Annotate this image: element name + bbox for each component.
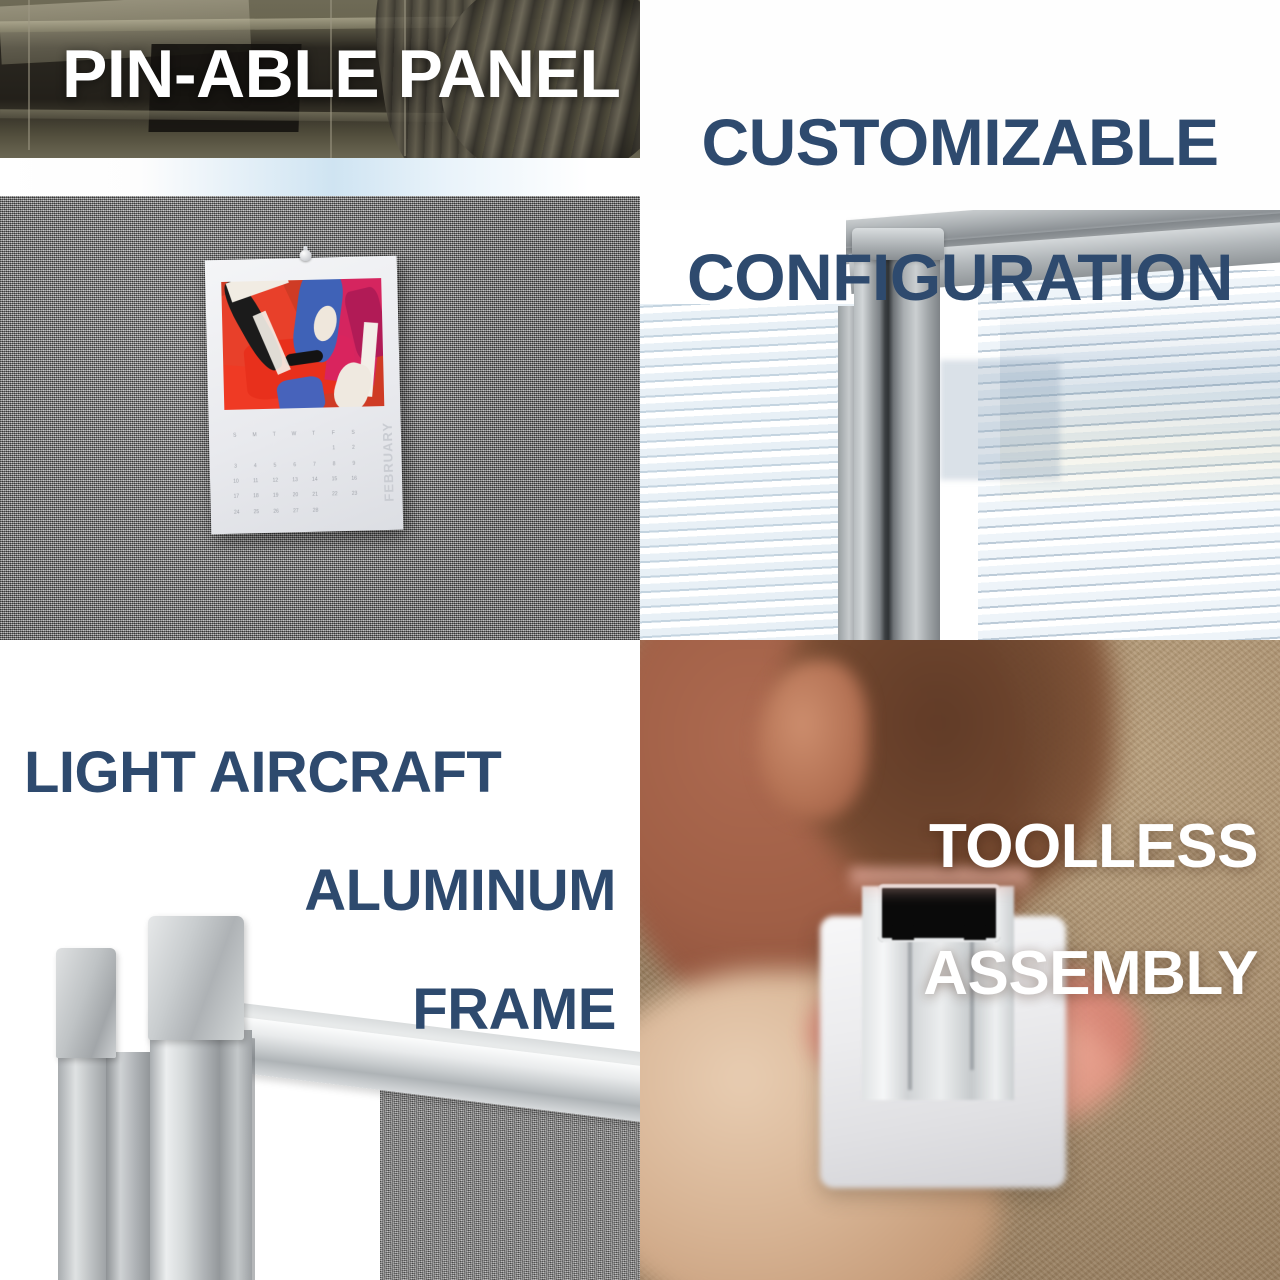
calendar-weekday: S xyxy=(343,427,363,443)
calendar-day: 22 xyxy=(325,488,345,504)
push-pin-icon xyxy=(296,246,314,266)
calendar-day xyxy=(284,443,304,459)
calendar-day: 16 xyxy=(344,473,364,489)
calendar-day: 18 xyxy=(246,490,266,506)
panel-top-edge-glare xyxy=(0,158,640,198)
calendar-day: 17 xyxy=(226,491,246,507)
calendar-weekday: F xyxy=(323,427,343,443)
calendar-day: 8 xyxy=(324,458,344,474)
calendar-day: 7 xyxy=(304,458,324,474)
calendar-day: 23 xyxy=(345,488,365,504)
quadrant-3-headline: LIGHT AIRCRAFT ALUMINUM FRAME xyxy=(24,684,616,1098)
calendar-day xyxy=(345,503,365,519)
calendar-day xyxy=(225,445,245,461)
quadrant-pin-able-panel: SMTWTFS123456789101112131415161718192021… xyxy=(0,0,640,640)
quadrant-2-headline-line1: CUSTOMIZABLE xyxy=(648,109,1272,176)
calendar-day: 24 xyxy=(227,506,247,522)
quadrant-2-headline: CUSTOMIZABLE CONFIGURATION xyxy=(640,42,1280,379)
quadrant-4-headline-line2: ASSEMBLY xyxy=(664,942,1258,1005)
calendar-day: 14 xyxy=(305,474,325,490)
feature-grid: SMTWTFS123456789101112131415161718192021… xyxy=(0,0,1280,1280)
calendar-day: 28 xyxy=(306,504,326,520)
calendar-day xyxy=(245,444,265,460)
calendar-day: 2 xyxy=(343,442,363,458)
calendar-weekday: M xyxy=(245,429,265,445)
calendar-weekday: W xyxy=(284,428,304,444)
calendar-day: 11 xyxy=(246,475,266,491)
calendar-day: 25 xyxy=(246,506,266,522)
calendar-day: 5 xyxy=(265,459,285,475)
calendar-weekday: T xyxy=(264,428,284,444)
calendar-day: 15 xyxy=(324,473,344,489)
calendar-day: 6 xyxy=(285,459,305,475)
calendar-day: 1 xyxy=(324,442,344,458)
calendar-weekday: S xyxy=(225,429,245,445)
quadrant-3-headline-line3: FRAME xyxy=(24,980,616,1039)
calendar-day: 13 xyxy=(285,474,305,490)
calendar-day xyxy=(325,504,345,520)
calendar-weekday: T xyxy=(304,428,324,444)
pinned-calendar: SMTWTFS123456789101112131415161718192021… xyxy=(205,256,404,535)
hanger-rod xyxy=(28,0,30,150)
calendar-day-grid: SMTWTFS123456789101112131415161718192021… xyxy=(225,427,365,522)
calendar-day: 4 xyxy=(245,460,265,476)
quadrant-2-headline-line2: CONFIGURATION xyxy=(648,244,1272,311)
calendar-day: 12 xyxy=(265,474,285,490)
quadrant-light-aircraft-aluminum-frame: LIGHT AIRCRAFT ALUMINUM FRAME xyxy=(0,640,640,1280)
calendar-day: 27 xyxy=(286,505,306,521)
calendar-day xyxy=(304,443,324,459)
calendar-day xyxy=(265,444,285,460)
calendar-artwork xyxy=(221,278,384,410)
quadrant-toolless-assembly: TOOLLESS ASSEMBLY xyxy=(640,640,1280,1280)
calendar-day: 20 xyxy=(285,489,305,505)
calendar-day: 3 xyxy=(226,460,246,476)
calendar-month-label: FEBRUARY xyxy=(380,422,397,502)
quadrant-3-headline-line1: LIGHT AIRCRAFT xyxy=(24,743,616,802)
quadrant-customizable-configuration: CUSTOMIZABLE CONFIGURATION xyxy=(640,0,1280,640)
calendar-day: 21 xyxy=(305,489,325,505)
calendar-day: 9 xyxy=(344,457,364,473)
quadrant-1-headline: PIN-ABLE PANEL xyxy=(62,40,620,109)
quadrant-4-headline-line1: TOOLLESS xyxy=(664,815,1258,878)
quadrant-3-headline-line2: ALUMINUM xyxy=(24,861,616,920)
calendar-day: 19 xyxy=(266,490,286,506)
quadrant-4-headline: TOOLLESS ASSEMBLY xyxy=(664,752,1258,1068)
calendar-day: 10 xyxy=(226,475,246,491)
calendar-day: 26 xyxy=(266,505,286,521)
